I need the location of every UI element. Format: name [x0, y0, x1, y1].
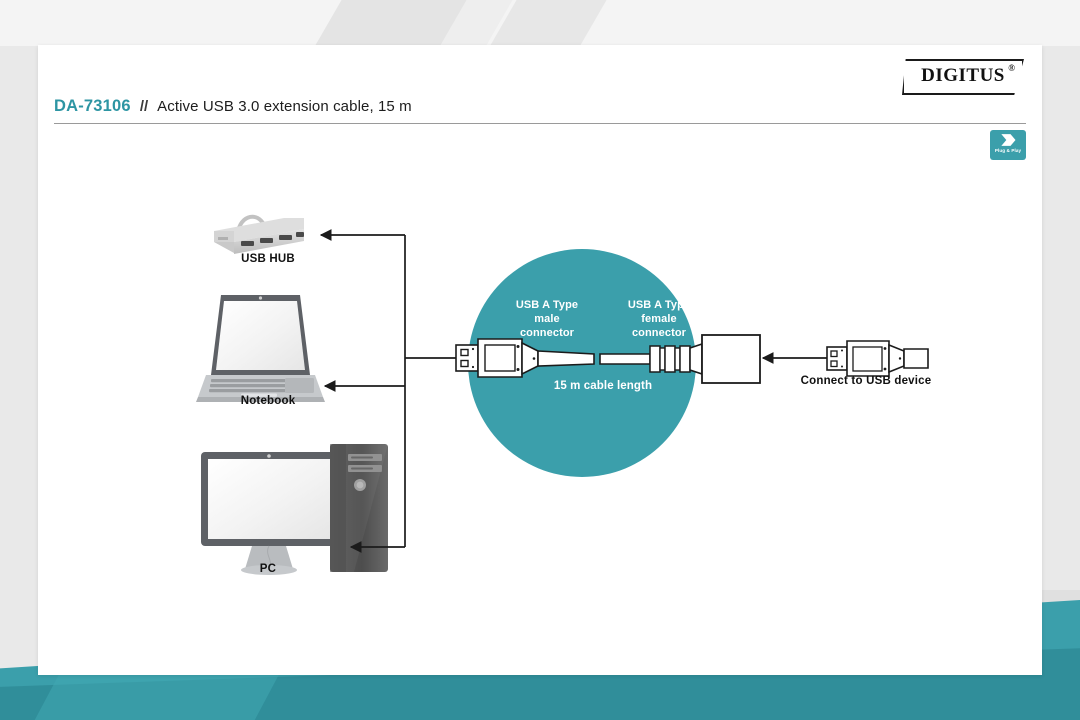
slide-canvas: DIGITUS ® DA-73106 // Active USB 3.0 ext… [0, 0, 1080, 720]
content-card: DIGITUS ® DA-73106 // Active USB 3.0 ext… [38, 45, 1042, 675]
pc-illustration [201, 444, 388, 575]
notebook-illustration [196, 295, 325, 402]
female-connector-label-line1: USB A Type [598, 298, 720, 312]
usb-hub-label: USB HUB [188, 253, 348, 265]
cable-length-label: 15 m cable length [488, 379, 718, 394]
pc-label: PC [188, 563, 348, 575]
target-usb-plug [827, 341, 928, 376]
male-connector-label-line2: male [486, 312, 608, 326]
product-diagram: USB A Type male connector USB A Type fem… [38, 45, 1042, 675]
female-connector-label-line3: connector [598, 326, 720, 340]
notebook-label: Notebook [188, 395, 348, 407]
female-connector-label: USB A Type female connector [598, 298, 720, 340]
cable-cord [538, 351, 650, 366]
connect-to-usb-device-label: Connect to USB device [756, 375, 976, 387]
usb-hub-illustration [214, 217, 304, 254]
male-connector-label-line1: USB A Type [486, 298, 608, 312]
diagram-vectors [38, 45, 1042, 675]
usb-a-female-connector [702, 335, 760, 383]
cable-strain-relief [650, 344, 702, 374]
usb-a-male-connector [456, 339, 538, 377]
female-connector-label-line2: female [598, 312, 720, 326]
male-connector-label-line3: connector [486, 326, 608, 340]
male-connector-label: USB A Type male connector [486, 298, 608, 340]
